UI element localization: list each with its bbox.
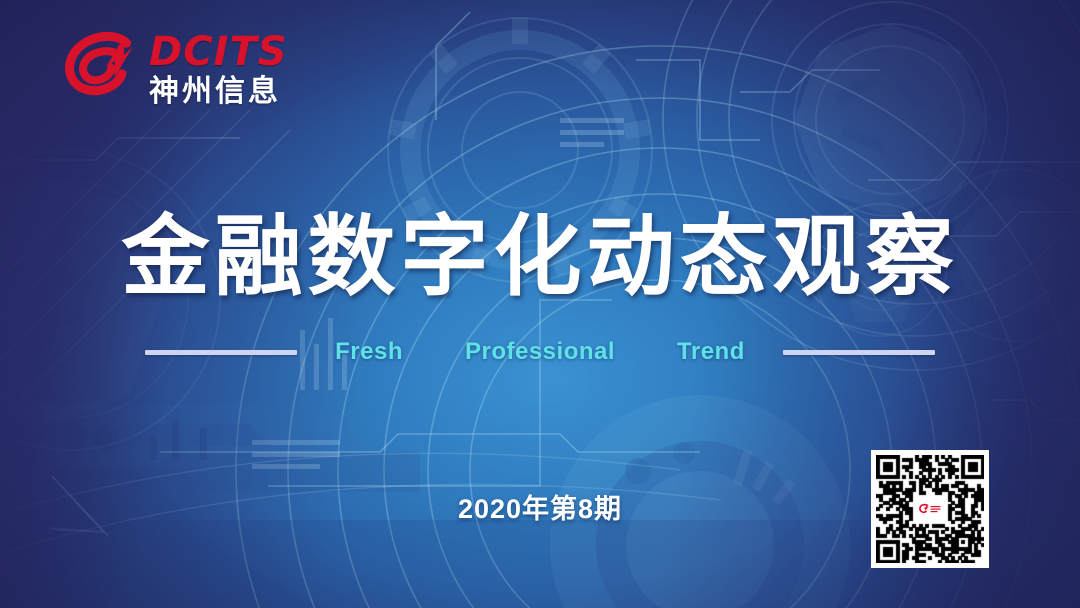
subtitle-word-professional: Professional xyxy=(465,338,615,366)
poster-cover: DCITS 神州信息 金融数字化动态观察 Fresh Professional … xyxy=(0,0,1080,608)
subtitle-word-fresh: Fresh xyxy=(335,338,403,366)
brand-logo: DCITS 神州信息 xyxy=(62,28,288,110)
subtitle-words: Fresh Professional Trend xyxy=(335,338,745,366)
wechat-qr-code[interactable] xyxy=(871,450,989,568)
subtitle-rule-right xyxy=(783,350,935,355)
qr-center-logo xyxy=(916,499,944,519)
page-title: 金融数字化动态观察 xyxy=(0,186,1080,313)
subtitle-word-trend: Trend xyxy=(677,338,745,366)
brand-name-en: DCITS xyxy=(149,32,288,72)
qr-center-swirl-icon xyxy=(918,502,942,516)
brand-logo-text: DCITS 神州信息 xyxy=(149,32,288,107)
subtitle-rule-left xyxy=(145,350,297,355)
dcits-swirl-logo-icon xyxy=(62,28,140,110)
subtitle-row: Fresh Professional Trend xyxy=(0,338,1080,366)
brand-name-cn: 神州信息 xyxy=(149,77,288,107)
